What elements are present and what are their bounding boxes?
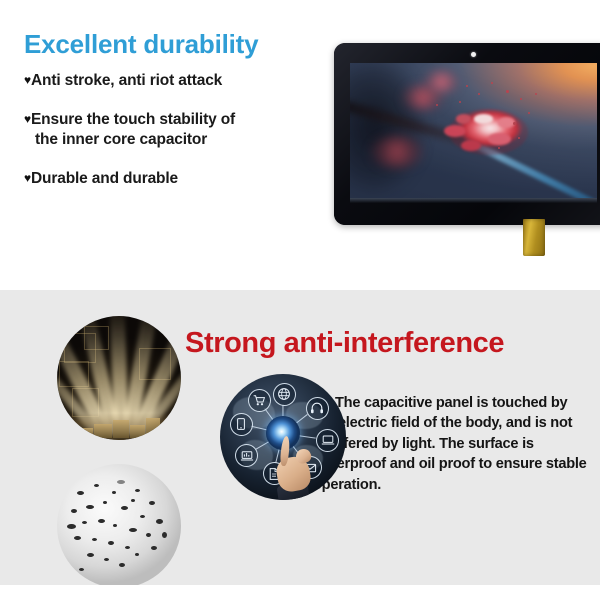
water-droplet bbox=[151, 546, 157, 550]
anti-interference-paragraph: The capacitive panel is touched by the e… bbox=[313, 393, 591, 496]
water-droplet bbox=[103, 501, 107, 504]
list-item-text: Anti stroke, anti riot attack bbox=[31, 72, 222, 89]
screen-edge-reflection bbox=[350, 198, 597, 203]
wallpaper-background-bloom bbox=[370, 136, 424, 168]
heart-bullet-icon: ♥ bbox=[24, 73, 31, 87]
water-droplet bbox=[135, 553, 139, 556]
water-droplet bbox=[140, 515, 145, 518]
water-droplet bbox=[113, 524, 117, 527]
front-camera-icon bbox=[471, 52, 476, 57]
durability-heading: Excellent durability bbox=[24, 29, 258, 60]
water-droplet bbox=[104, 558, 109, 561]
water-droplet bbox=[162, 532, 167, 538]
marketing-product-page: Excellent durability ♥Anti stroke, anti … bbox=[0, 0, 600, 600]
water-droplet bbox=[119, 563, 125, 567]
water-droplet bbox=[125, 546, 130, 549]
wallpaper-particle bbox=[506, 90, 509, 93]
wallpaper-petal bbox=[461, 140, 481, 151]
tablet-product-image bbox=[334, 43, 600, 225]
list-item-text: Ensure the touch stability of bbox=[31, 111, 235, 128]
heart-bullet-icon: ♥ bbox=[24, 112, 31, 126]
water-droplet bbox=[82, 521, 87, 524]
water-droplet bbox=[149, 501, 155, 505]
heart-bullet-icon: ♥ bbox=[24, 171, 31, 185]
water-droplet bbox=[94, 484, 99, 487]
water-droplet bbox=[146, 533, 151, 537]
list-item: ♥Ensure the touch stability of the inner… bbox=[24, 109, 286, 150]
water-droplet bbox=[92, 538, 97, 541]
wallpaper-particle bbox=[491, 82, 493, 84]
water-droplet bbox=[129, 528, 137, 532]
water-droplet bbox=[156, 519, 163, 524]
wallpaper-particle bbox=[498, 147, 500, 149]
water-droplet bbox=[131, 499, 135, 502]
stage-block bbox=[130, 425, 145, 437]
water-droplet bbox=[98, 519, 105, 523]
flex-cable-connector bbox=[523, 219, 545, 256]
wallpaper-petal bbox=[456, 114, 471, 123]
water-droplet bbox=[117, 480, 125, 484]
stage-block bbox=[113, 420, 129, 437]
water-droplet bbox=[67, 524, 76, 529]
wallpaper-petal bbox=[474, 114, 494, 123]
durability-bullet-list: ♥Anti stroke, anti riot attack ♥Ensure t… bbox=[24, 70, 286, 207]
anti-interference-heading: Strong anti-interference bbox=[185, 327, 504, 360]
stage-block bbox=[94, 424, 111, 438]
water-droplet bbox=[87, 553, 94, 557]
water-droplet bbox=[77, 491, 84, 495]
wallpaper-particle bbox=[459, 101, 461, 103]
iot-globe-touch-photo bbox=[220, 374, 346, 500]
section-excellent-durability: Excellent durability ♥Anti stroke, anti … bbox=[0, 0, 600, 290]
water-droplet bbox=[121, 506, 128, 510]
water-droplet bbox=[74, 536, 81, 540]
water-droplets-photo bbox=[57, 464, 181, 585]
stage-lights-photo bbox=[57, 316, 181, 440]
water-droplet bbox=[79, 568, 84, 571]
tablet-icon bbox=[230, 413, 253, 436]
wallpaper-particle bbox=[466, 85, 468, 87]
wallpaper-particle bbox=[528, 112, 530, 114]
water-droplet bbox=[108, 541, 114, 545]
list-item-text: Durable and durable bbox=[31, 170, 178, 187]
list-item-text-line2: the inner core capacitor bbox=[24, 130, 286, 150]
section-strong-anti-interference: Strong anti-interference The capacitive … bbox=[0, 290, 600, 585]
wallpaper-background-bloom bbox=[424, 71, 459, 93]
list-item: ♥Durable and durable bbox=[24, 168, 286, 189]
water-droplet bbox=[71, 509, 77, 513]
wallpaper-petal bbox=[488, 133, 510, 145]
water-droplet bbox=[86, 505, 94, 509]
list-item: ♥Anti stroke, anti riot attack bbox=[24, 70, 286, 91]
tablet-screen bbox=[350, 63, 597, 198]
globe-icon bbox=[273, 383, 296, 406]
water-droplet bbox=[135, 489, 140, 492]
stage-block bbox=[146, 418, 160, 438]
pointing-hand bbox=[275, 440, 325, 500]
water-droplet bbox=[112, 491, 116, 494]
headphones-icon bbox=[306, 397, 329, 420]
cart-icon bbox=[248, 389, 271, 412]
stage-block bbox=[81, 428, 93, 438]
